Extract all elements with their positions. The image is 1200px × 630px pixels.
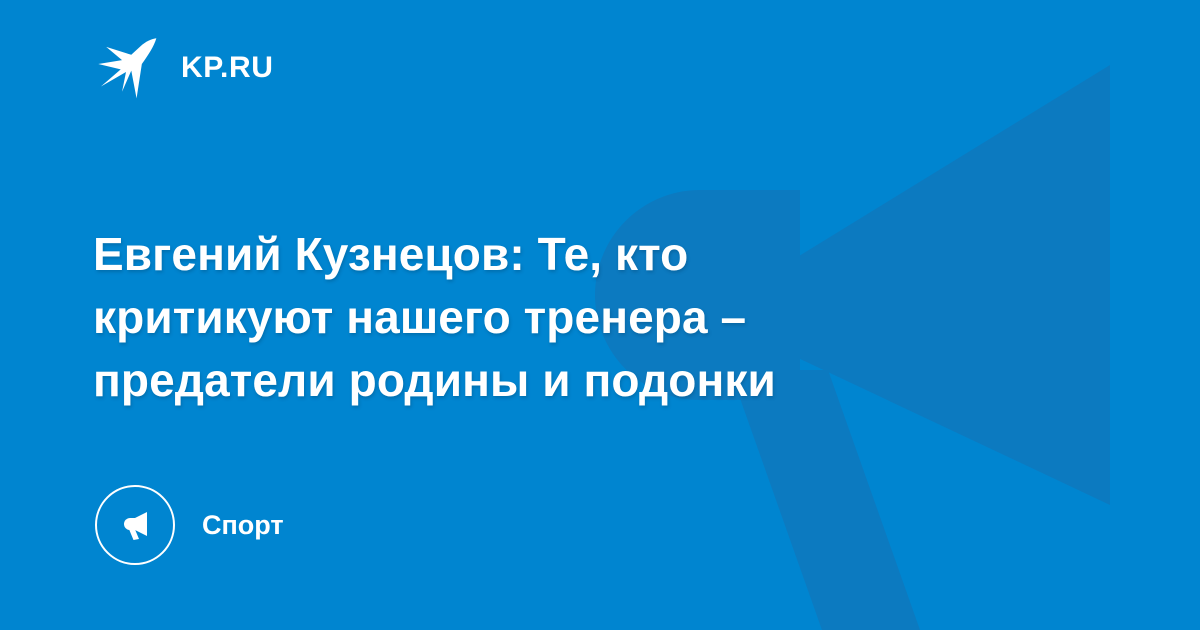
- social-share-card: KP.RU Евгений Кузнецов: Те, кто критикую…: [0, 0, 1200, 630]
- brand-name: KP.RU: [181, 53, 273, 83]
- category-icon-circle: [95, 485, 175, 565]
- swallow-bird-logo-icon: [93, 35, 159, 101]
- category-badge[interactable]: Спорт: [95, 485, 284, 565]
- brand-header[interactable]: KP.RU: [93, 33, 273, 103]
- megaphone-icon: [113, 503, 157, 547]
- category-label: Спорт: [202, 512, 284, 539]
- page-title: Евгений Кузнецов: Те, кто критикуют наше…: [93, 223, 973, 412]
